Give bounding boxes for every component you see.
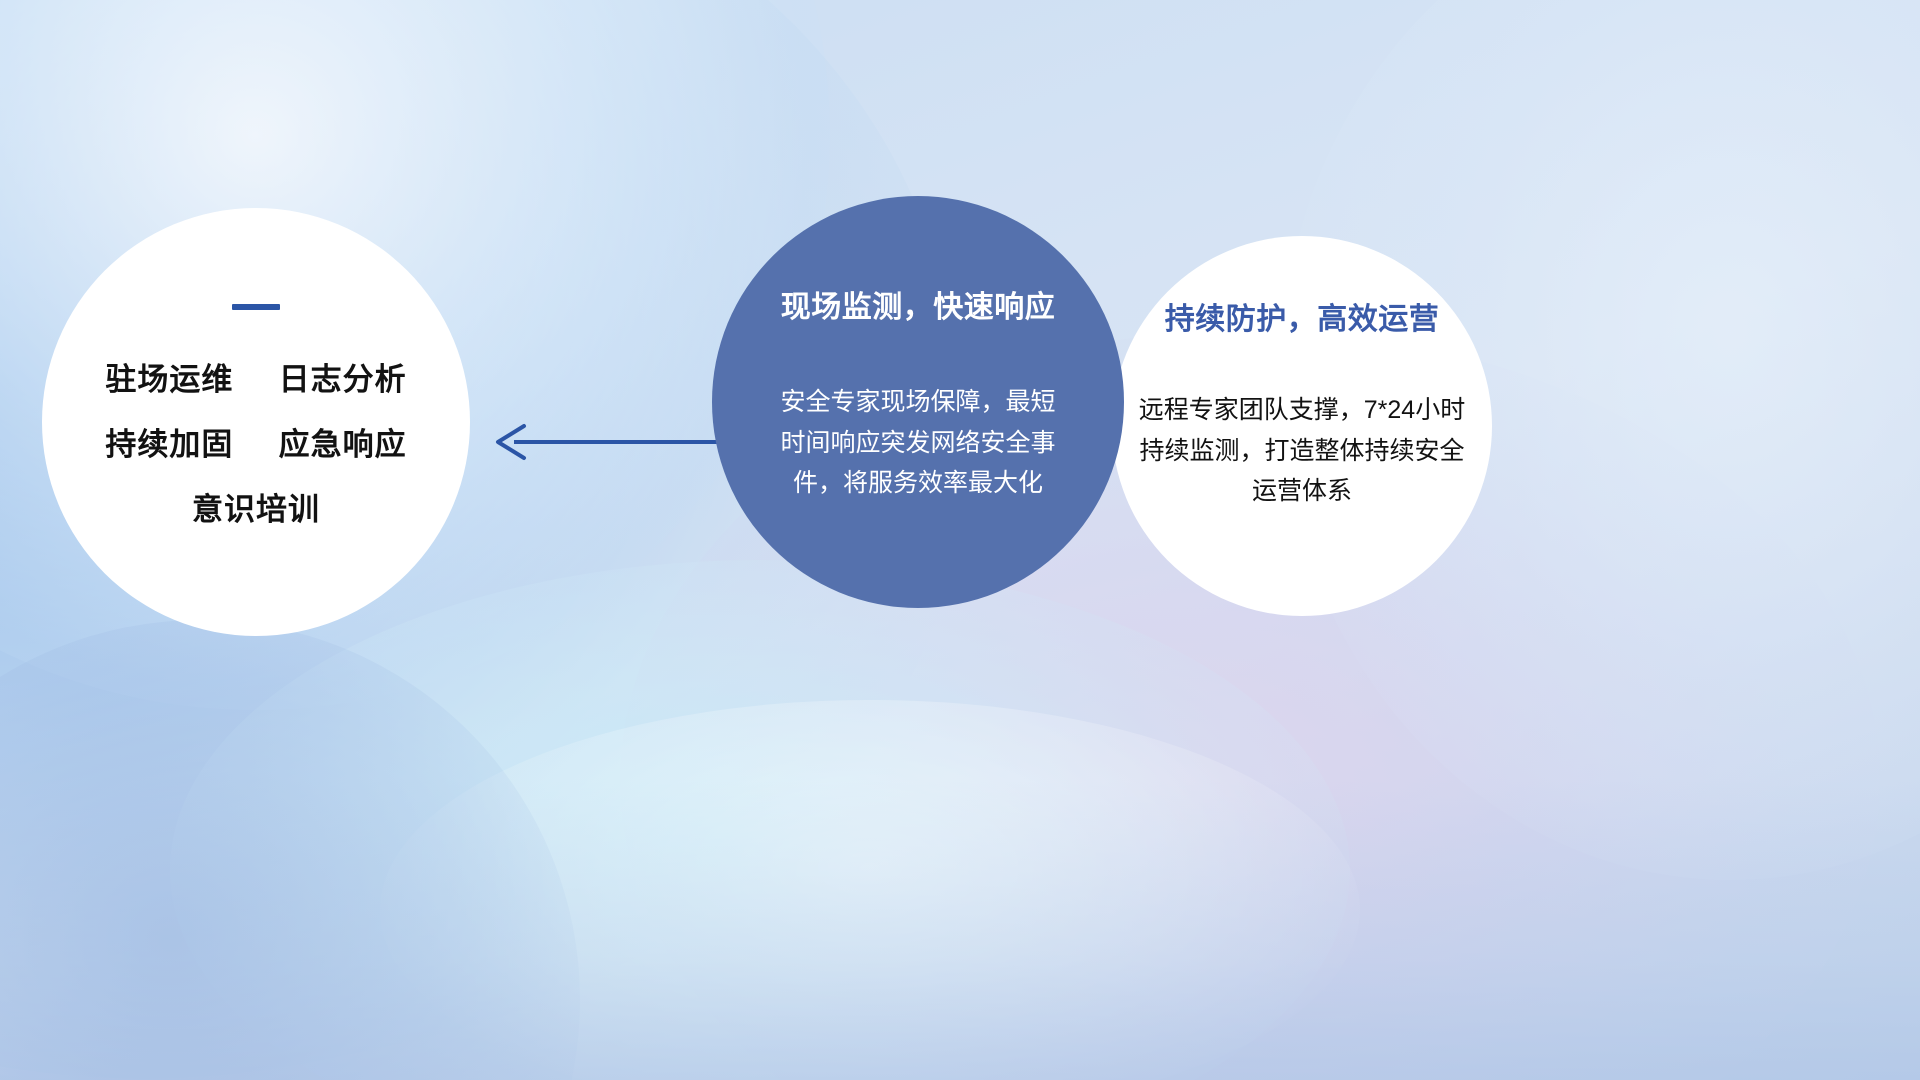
node-onsite-capabilities[interactable]: 驻场运维 日志分析 持续加固 应急响应 意识培训	[42, 208, 470, 636]
node-continuous-protection[interactable]: 持续防护，高效运营 远程专家团队支撑，7*24小时持续监测，打造整体持续安全运营…	[1112, 236, 1492, 616]
capability-item: 意识培训	[192, 492, 320, 527]
node-title: 现场监测，快速响应	[781, 282, 1056, 326]
horizontal-dash-icon	[232, 304, 280, 310]
arrow-left-icon	[480, 412, 740, 472]
connector-arrow	[480, 412, 740, 472]
capability-item: 日志分析	[279, 362, 407, 397]
node-body: 远程专家团队支撑，7*24小时持续监测，打造整体持续安全运营体系	[1137, 390, 1467, 512]
capability-item: 持续加固	[105, 427, 233, 462]
capability-row: 驻场运维 日志分析	[105, 354, 406, 399]
slide-canvas: 驻场运维 日志分析 持续加固 应急响应 意识培训 持续防护，高效运营 远程专家团…	[0, 0, 1920, 1080]
capability-row: 意识培训	[192, 484, 320, 529]
capability-item: 应急响应	[279, 427, 407, 462]
capability-row: 持续加固 应急响应	[105, 419, 406, 464]
capability-list: 驻场运维 日志分析 持续加固 应急响应 意识培训	[105, 354, 406, 529]
node-title: 持续防护，高效运营	[1165, 294, 1440, 338]
node-body: 安全专家现场保障，最短时间响应突发网络安全事件，将服务效率最大化	[773, 382, 1063, 504]
node-onsite-monitoring[interactable]: 现场监测，快速响应 安全专家现场保障，最短时间响应突发网络安全事件，将服务效率最…	[712, 196, 1124, 608]
capability-item: 驻场运维	[105, 362, 233, 397]
